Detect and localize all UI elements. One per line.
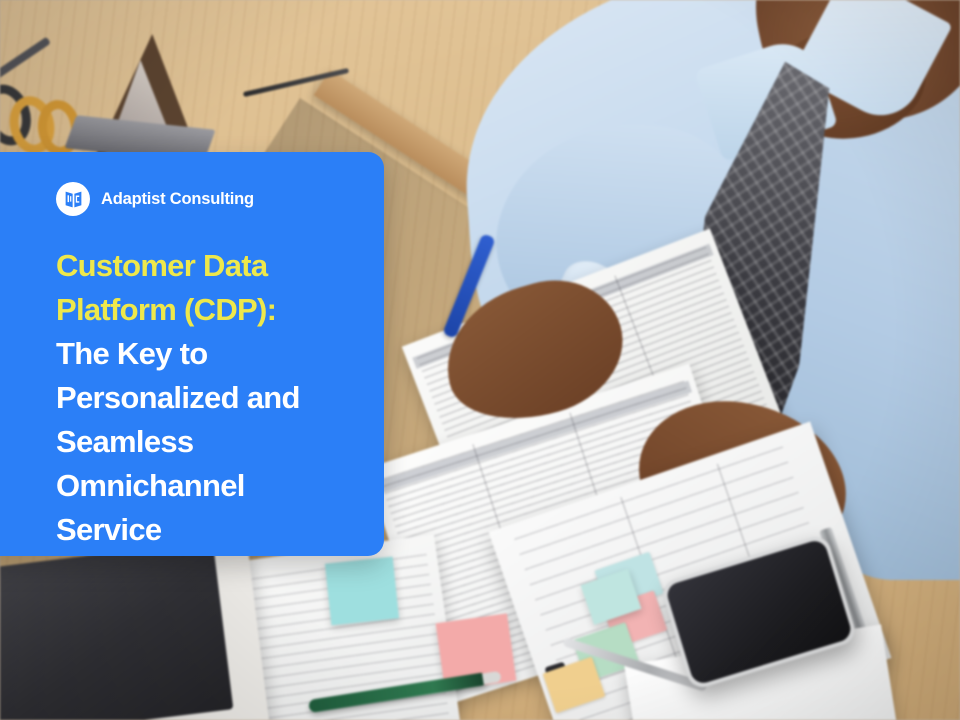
headline-accent-line-1: Customer Data [56,244,360,288]
brand-name: Adaptist Consulting [101,190,254,209]
sticky-note-teal [325,557,399,626]
headline-main-line-2: Personalized and [56,376,360,420]
ac-monogram-book-icon [56,182,90,216]
headline-accent-line-2: Platform (CDP): [56,288,360,332]
headline-main-line-3: Seamless [56,420,360,464]
headline-main-line-4: Omnichannel [56,464,360,508]
brand-lockup: Adaptist Consulting [56,182,360,216]
headline-main-line-1: The Key to [56,332,360,376]
tablet-screen [0,540,233,720]
headline-card: Adaptist Consulting Customer Data Platfo… [0,152,384,556]
headline-main-line-5: Service [56,508,360,552]
page-title: Customer Data Platform (CDP): The Key to… [56,244,360,552]
